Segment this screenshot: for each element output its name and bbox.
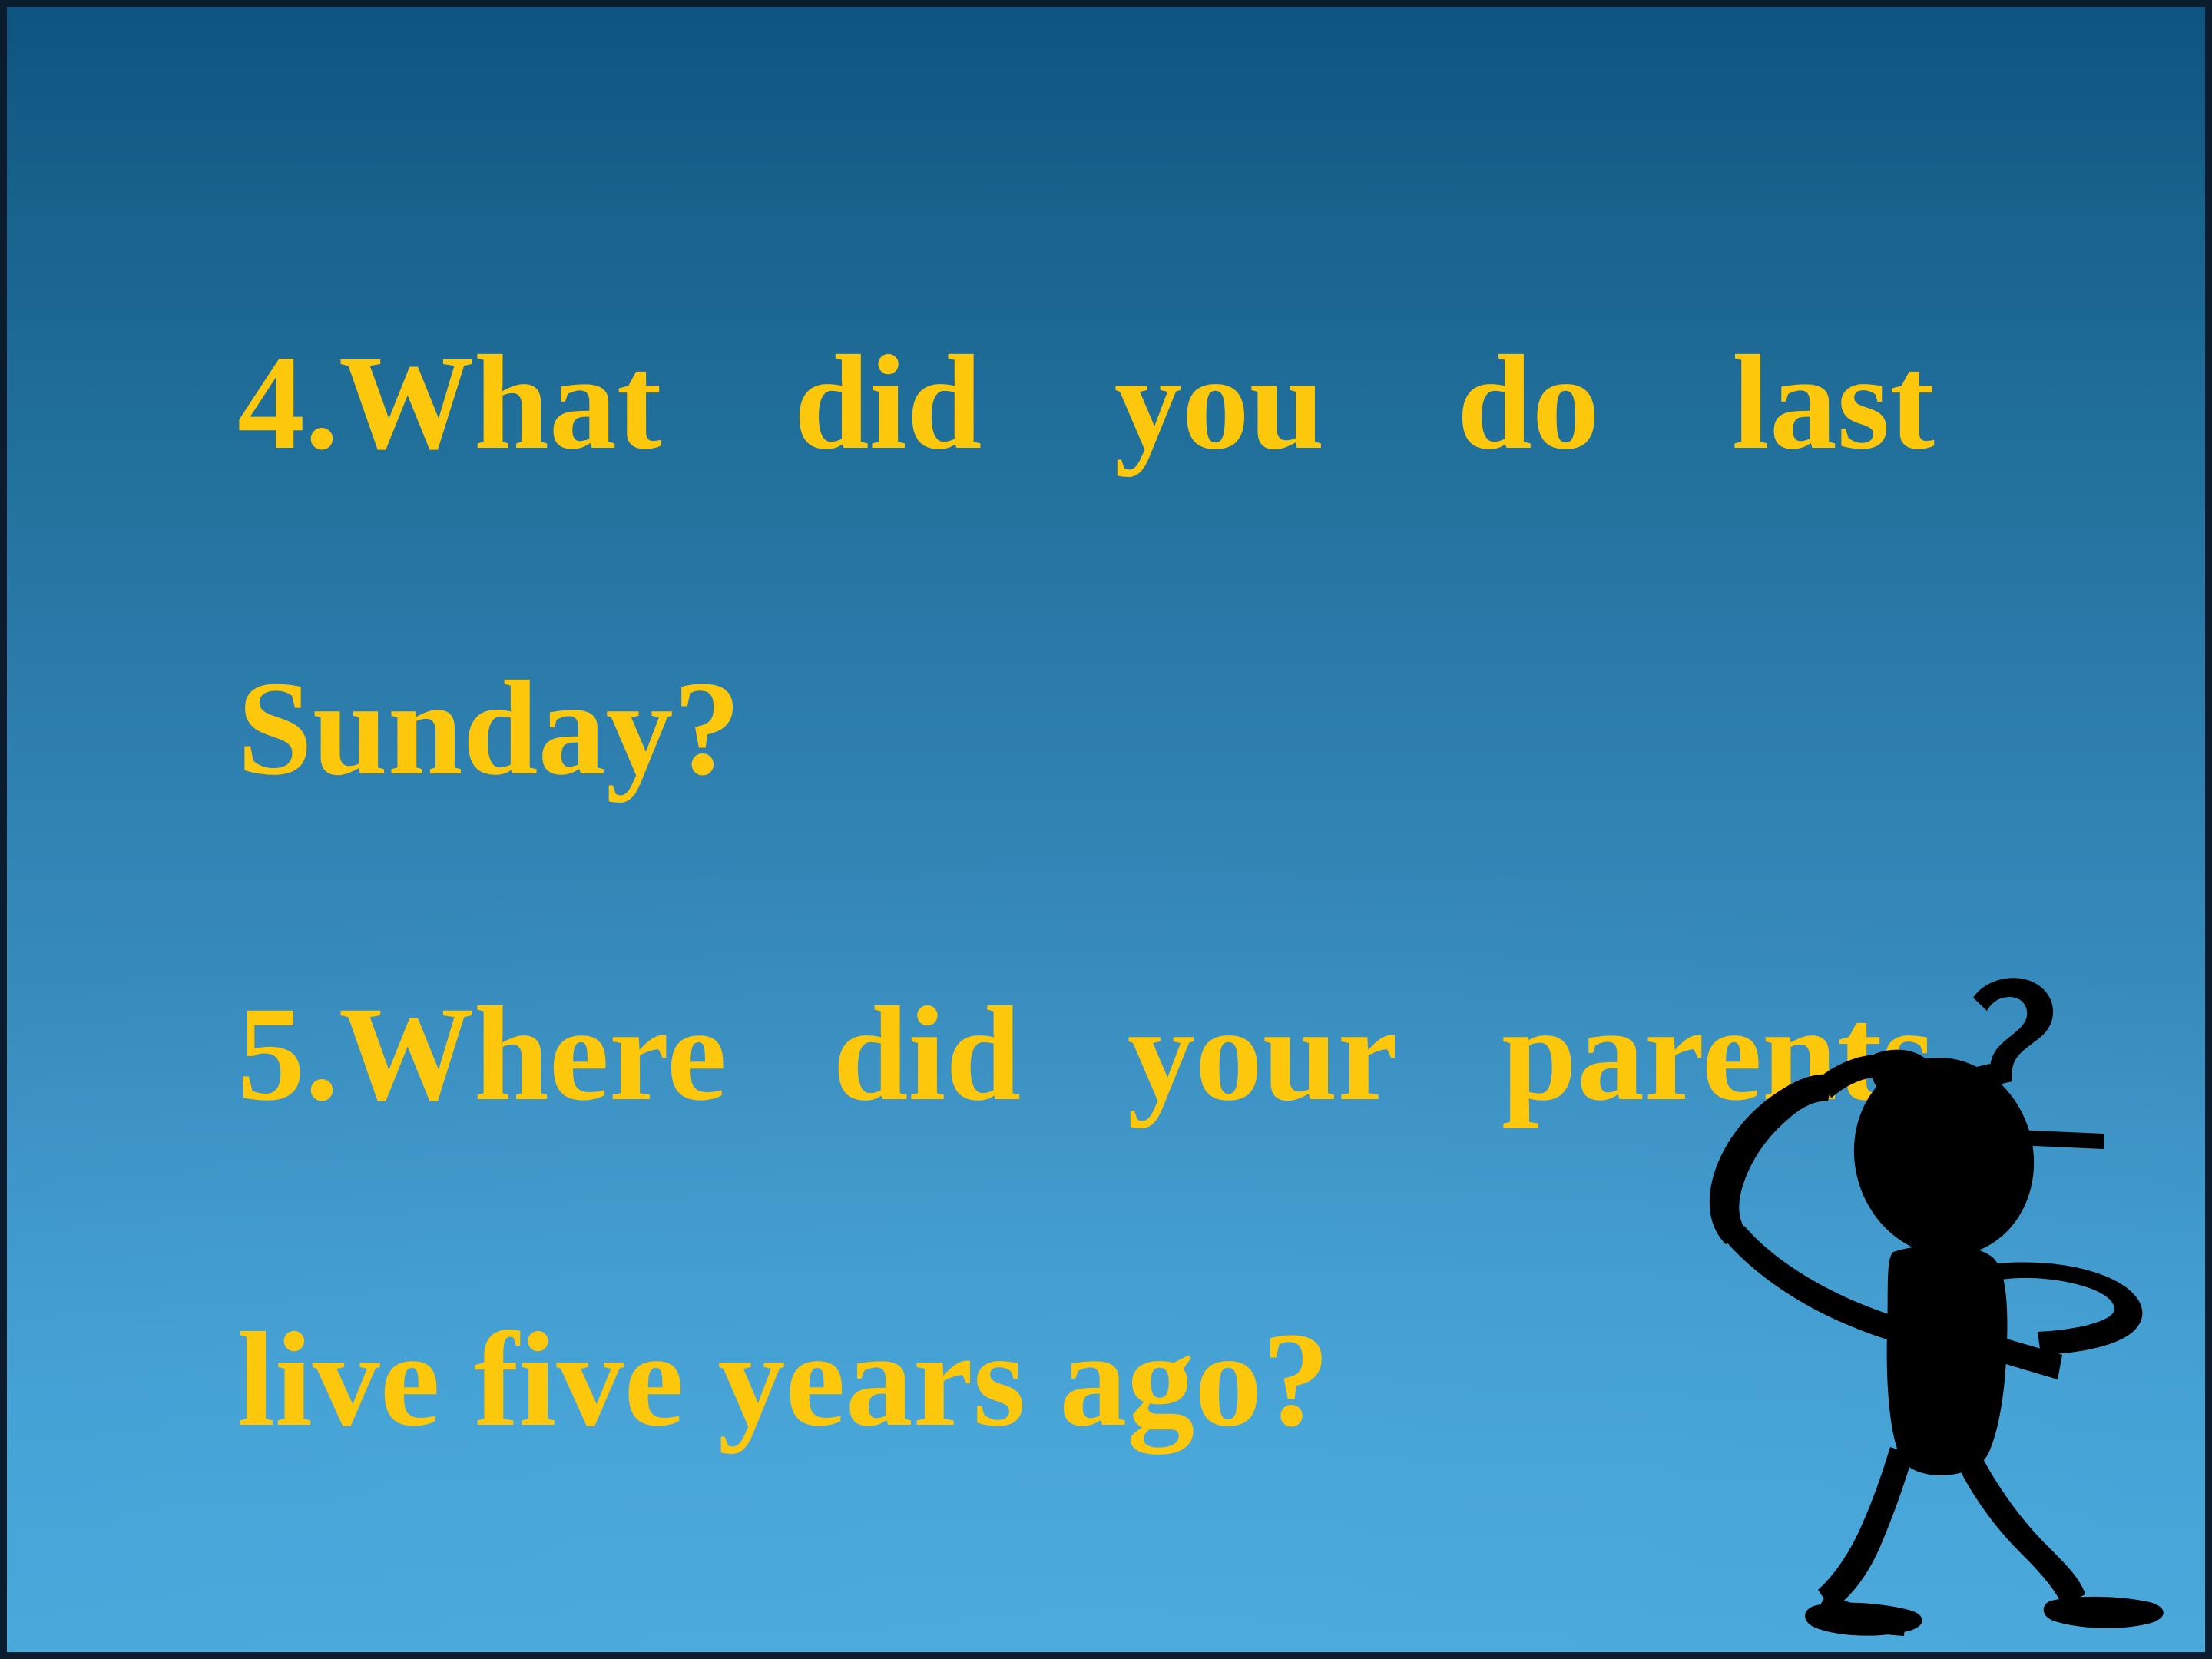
- paragraph-gap: [237, 810, 1935, 973]
- question-4-line-2: Sunday?: [237, 647, 1935, 810]
- question-4-line-1: 4.What did you do last: [237, 322, 1935, 647]
- question-4: 4.What did you do last Sunday?: [237, 322, 1935, 810]
- presentation-slide: 4.What did you do last Sunday? 5.Where d…: [0, 0, 2212, 1659]
- confused-stick-figure-icon: [1674, 955, 2211, 1639]
